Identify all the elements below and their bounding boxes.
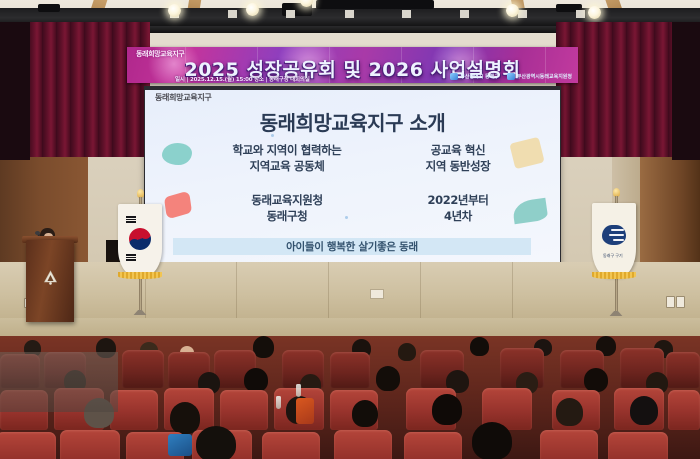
city-logo-icon [450,73,458,80]
truss-block-6 [460,10,469,18]
office-logo-label: 부산광역시동래교육지원청 [517,73,572,80]
slide-cell-bottom-left-line1: 동래교육지원청 [197,192,377,208]
wall-outlet-right [666,296,675,308]
slide-cell-top-right-line2: 지역 동반성장 [383,158,533,174]
truss-block-8 [576,10,585,18]
right-flag-fringe [592,272,636,279]
microphone-icon [35,231,40,235]
audience-head [398,343,416,361]
stage-seam-4 [420,262,421,324]
audience-head [196,426,236,459]
audience-bag [296,398,314,424]
auditorium-seat [334,430,392,459]
banner-detail: 일시 | 2025.12.15.(월) 15:00 장소 | 동래구청 대회의실 [175,75,310,83]
slide-cell-bottom-left-line2: 동래구청 [197,208,377,224]
stage-seam-5 [512,262,513,324]
truss-block-2 [228,10,237,18]
slide-title: 동래희망교육지구 소개 [145,107,560,136]
slide-cell-top-left: 학교와 지역이 협력하는 지역교육 공동체 [197,142,377,175]
event-banner: 동래희망교육지구 2025 성장공유회 및 2026 사업설명회 일시 | 20… [127,47,578,83]
audience-head [630,396,658,425]
photo-scene: 동래희망교육지구 2025 성장공유회 및 2026 사업설명회 일시 | 20… [0,0,700,459]
auditorium-seat [668,390,700,430]
slide-eyebrow: 동래희망교육지구 [155,92,211,103]
left-flag-fringe [118,272,162,279]
spotlight-4 [588,6,601,19]
audience-bag [168,434,192,456]
audience-head [170,402,200,434]
slide-cell-bottom-right: 2022년부터 4년차 [383,192,533,225]
district-flag-caption: 동래구 구기 [603,253,623,259]
district-emblem-icon [602,225,626,245]
truss-block-4 [345,10,354,18]
curtain-shadow-right [672,22,700,160]
audience-head [253,336,274,358]
slide-cell-top-left-line2: 지역교육 공동체 [197,158,377,174]
audience-head [472,422,512,459]
slide-footer-banner: 아이들이 행복한 살기좋은 동래 [173,238,531,255]
banner-logo-group: 부산광역시 동래구 부산광역시동래교육지원청 [450,73,572,80]
audience-head [376,366,400,391]
truss-block-5 [402,10,411,18]
office-logo: 부산광역시동래교육지원청 [507,73,572,80]
slide-cell-top-right: 공교육 혁신 지역 동반성장 [383,142,533,175]
city-logo: 부산광역시 동래구 [450,73,499,80]
truss-block-3 [286,10,295,18]
center-aisle-floor [0,352,118,412]
trigram-geon-icon [126,216,136,223]
auditorium-seat [60,430,120,459]
water-bottle [276,396,281,409]
audience-head [432,394,462,425]
water-bottle [296,384,301,397]
auditorium-seat [0,432,56,459]
audience-head [244,368,268,392]
spotlight-2 [246,3,259,16]
wall-outlet-right-2 [676,296,685,308]
audience-head [556,398,583,426]
slide-cell-top-right-line1: 공교육 혁신 [383,142,533,158]
lectern-emblem-icon [42,270,59,285]
slide-cell-bottom-left: 동래교육지원청 동래구청 [197,192,377,225]
spotlight-3 [506,4,519,17]
stage-seam-2 [236,262,237,324]
stage-seam-3 [328,262,329,324]
korean-national-flag [118,204,162,276]
audience-head [470,337,489,356]
auditorium-seat [220,390,268,430]
taegeuk-icon [129,228,151,250]
curtain-shadow-left [0,22,30,160]
office-logo-icon [507,73,515,80]
auditorium-seat [262,432,320,459]
auditorium-seat [608,432,668,459]
presentation-slide: 동래희망교육지구 동래희망교육지구 소개 학교와 지역이 협력하는 지역교육 공… [145,90,560,262]
spotlight-1 [168,4,181,17]
slide-cell-top-left-line1: 학교와 지역이 협력하는 [197,142,377,158]
slide-cell-bottom-right-line2: 4년차 [383,208,533,224]
wall-vent-icon [370,289,384,299]
auditorium-seat [122,350,164,388]
audience-head [584,368,608,392]
city-logo-label: 부산광역시 동래구 [460,73,499,80]
truss-bracket-left [38,4,60,12]
truss-block-7 [518,10,527,18]
trigram-gon-icon [126,254,136,261]
auditorium-seat [540,430,598,459]
audience-head [352,400,378,427]
auditorium-seat [666,352,700,388]
district-flag: 동래구 구기 [592,203,636,277]
slide-content-grid: 학교와 지역이 협력하는 지역교육 공동체 공교육 혁신 지역 동반성장 동래교… [175,140,535,235]
truss-bracket-right [316,0,434,9]
auditorium-seat [404,432,462,459]
auditorium-seat [330,352,370,388]
slide-cell-bottom-right-line1: 2022년부터 [383,192,533,208]
